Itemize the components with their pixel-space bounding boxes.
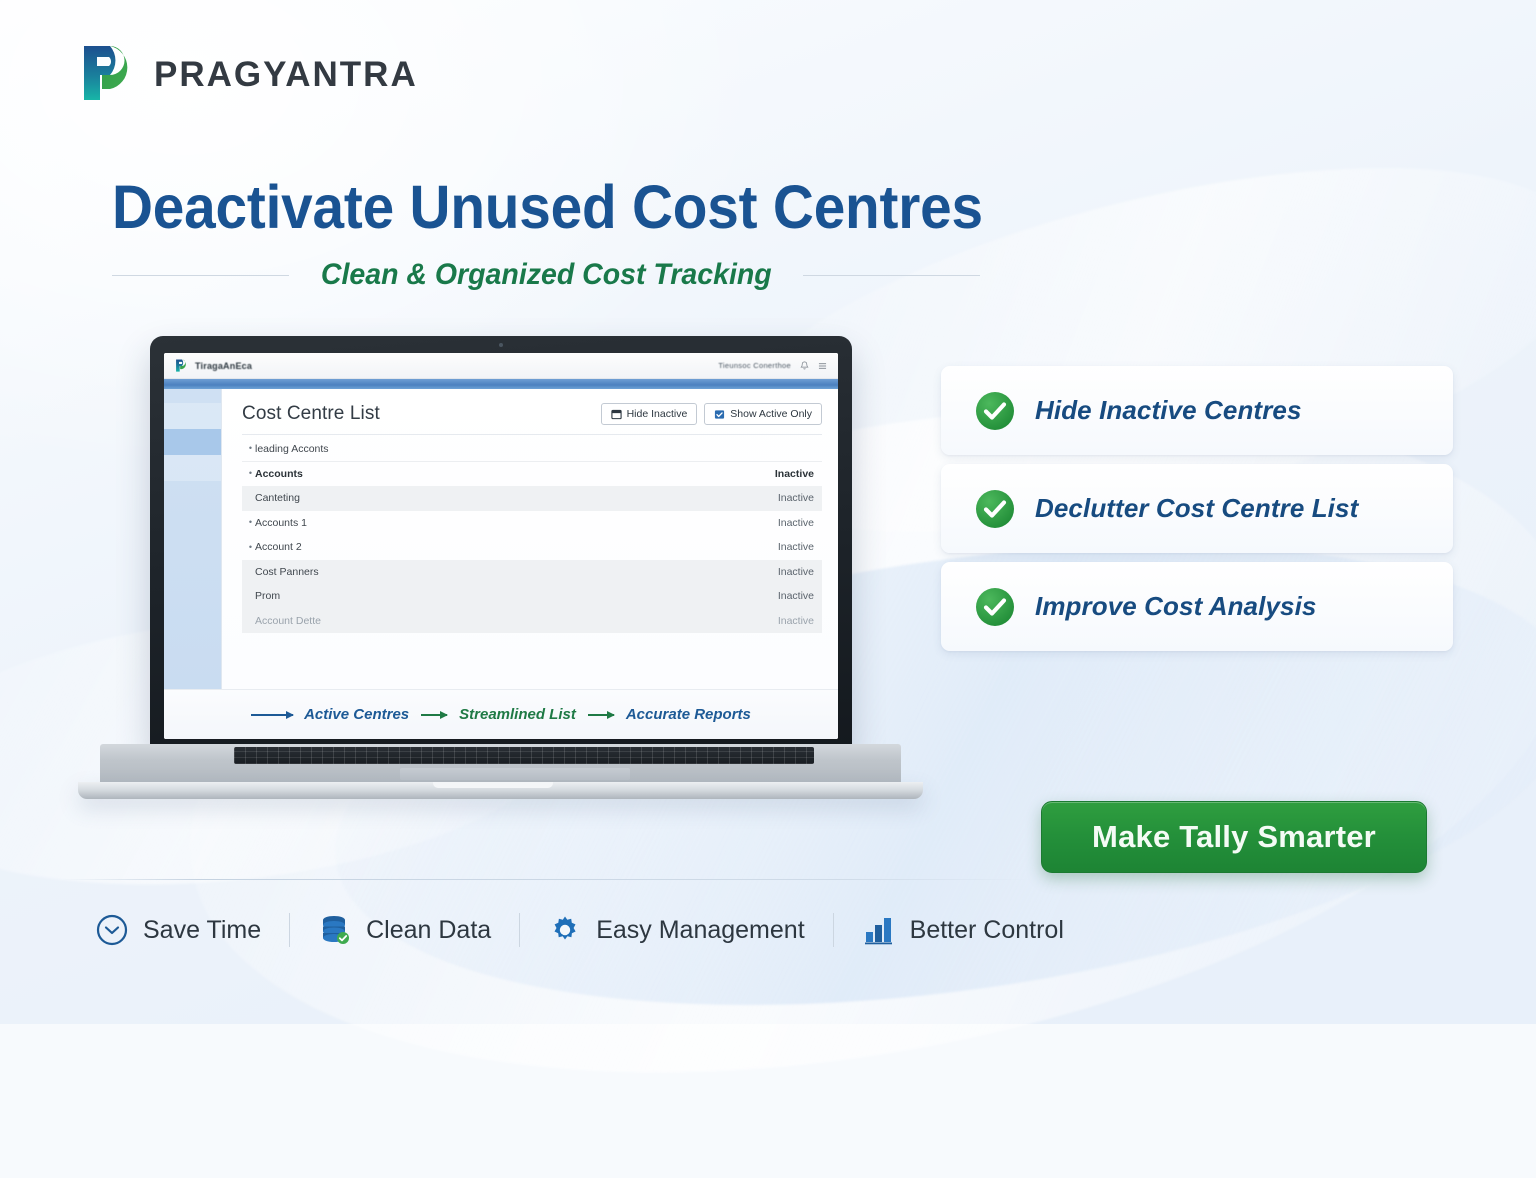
sidebar-block-active[interactable] — [164, 429, 221, 455]
table-row[interactable]: Account Dette Inactive — [242, 609, 822, 634]
webcam-icon — [499, 343, 503, 347]
row-status: Inactive — [778, 590, 814, 602]
bell-icon[interactable] — [800, 361, 809, 371]
subtitle-row: Clean & Organized Cost Tracking — [112, 258, 980, 292]
clock-icon — [95, 913, 129, 947]
table-row[interactable]: Canteting Inactive — [242, 486, 822, 511]
row-name: Canteting — [255, 492, 300, 504]
app-main-panel: Cost Centre List Hide Inactive — [222, 389, 838, 689]
row-name: Account 2 — [255, 541, 302, 553]
show-active-only-label: Show Active Only — [730, 408, 812, 420]
row-bullet-icon: • — [246, 469, 255, 478]
app-p-logo-icon — [175, 359, 188, 373]
benefit-label: Hide Inactive Centres — [1035, 395, 1302, 426]
row-bullet-icon: • — [246, 444, 255, 453]
bar-chart-icon — [862, 913, 896, 947]
table-row[interactable]: • Account 2 Inactive — [242, 535, 822, 560]
app-accent-bar — [164, 379, 838, 389]
laptop-mockup: TiragaAnEca Tieunsoc Conerthoe — [78, 336, 923, 806]
make-tally-smarter-button[interactable]: Make Tally Smarter — [1041, 801, 1427, 873]
row-bullet-icon: • — [246, 543, 255, 552]
row-status: Inactive — [778, 492, 814, 504]
row-status: Inactive — [778, 566, 814, 578]
checkbox-checked-icon — [714, 409, 725, 420]
app-header-text: Tieunsoc Conerthoe — [718, 361, 791, 370]
benefit-label: Improve Cost Analysis — [1035, 591, 1316, 622]
row-name: Prom — [255, 590, 280, 602]
save-box-icon — [611, 409, 622, 420]
laptop-lid: TiragaAnEca Tieunsoc Conerthoe — [150, 336, 852, 751]
footer-feature-better-control: Better Control — [862, 913, 1064, 947]
laptop-latch-notch — [433, 782, 553, 788]
footer-divider — [62, 879, 1030, 880]
table-row[interactable]: Cost Panners Inactive — [242, 560, 822, 585]
page-title: Deactivate Unused Cost Centres — [112, 172, 1042, 242]
row-bullet-icon: • — [246, 518, 255, 527]
cta-label: Make Tally Smarter — [1092, 819, 1376, 855]
flow-step-2: Streamlined List — [459, 706, 576, 723]
flow-step-1: Active Centres — [304, 706, 409, 723]
row-status: Inactive — [778, 541, 814, 553]
row-name: leading Acconts — [255, 443, 329, 455]
footer-feature-clean-data: Clean Data — [318, 913, 491, 947]
flow-step-3: Accurate Reports — [626, 706, 751, 723]
gear-icon — [548, 913, 582, 947]
database-icon — [318, 913, 352, 947]
row-name: Accounts — [255, 468, 303, 480]
row-status: Inactive — [778, 615, 814, 627]
app-name: TiragaAnEca — [195, 361, 252, 371]
sidebar-block-3[interactable] — [164, 455, 221, 481]
app-header: TiragaAnEca Tieunsoc Conerthoe — [164, 353, 838, 379]
subtitle-rule-right — [803, 275, 980, 276]
app-sidebar[interactable] — [164, 389, 222, 689]
brand-logo: PRAGYANTRA — [80, 44, 418, 106]
laptop-screen: TiragaAnEca Tieunsoc Conerthoe — [164, 353, 838, 739]
panel-title: Cost Centre List — [242, 403, 380, 425]
right-arrow-icon — [251, 714, 293, 716]
footer-divider-2 — [519, 913, 520, 947]
green-check-circle-icon — [974, 390, 1016, 432]
footer-divider-3 — [833, 913, 834, 947]
footer-feature-label: Save Time — [143, 916, 261, 945]
brand-name: PRAGYANTRA — [154, 55, 418, 95]
benefit-label: Declutter Cost Centre List — [1035, 493, 1358, 524]
hide-inactive-button[interactable]: Hide Inactive — [601, 403, 698, 425]
table-row[interactable]: • leading Acconts — [242, 437, 822, 462]
laptop-deck — [100, 744, 901, 784]
right-arrow-icon — [588, 714, 614, 716]
table-row[interactable]: • Accounts 1 Inactive — [242, 511, 822, 536]
subtitle-rule-left — [112, 275, 289, 276]
row-status: Inactive — [778, 517, 814, 529]
sidebar-block-1[interactable] — [164, 403, 221, 429]
hide-inactive-label: Hide Inactive — [627, 408, 688, 420]
cost-centre-list: • leading Acconts • Accounts Inactive Ca… — [242, 437, 822, 633]
footer-feature-save-time: Save Time — [95, 913, 261, 947]
footer-feature-label: Clean Data — [366, 916, 491, 945]
laptop-front-edge — [78, 782, 923, 799]
benefit-card-improve-cost-analysis[interactable]: Improve Cost Analysis — [941, 562, 1453, 651]
footer-feature-easy-management: Easy Management — [548, 913, 804, 947]
app-body: Cost Centre List Hide Inactive — [164, 389, 838, 689]
row-status: Inactive — [775, 468, 814, 480]
trackpad — [400, 768, 630, 780]
footer-feature-strip: Save Time Clean Data Easy Management — [95, 902, 1155, 958]
keyboard — [234, 747, 814, 764]
footer-feature-label: Better Control — [910, 916, 1064, 945]
footer-feature-label: Easy Management — [596, 916, 804, 945]
benefit-card-declutter-cost-centre-list[interactable]: Declutter Cost Centre List — [941, 464, 1453, 553]
table-row[interactable]: • Accounts Inactive — [242, 462, 822, 487]
row-name: Cost Panners — [255, 566, 319, 578]
green-check-circle-icon — [974, 586, 1016, 628]
app-header-right: Tieunsoc Conerthoe — [718, 361, 827, 371]
benefit-card-hide-inactive-centres[interactable]: Hide Inactive Centres — [941, 366, 1453, 455]
row-name: Account Dette — [255, 615, 321, 627]
laptop-base — [78, 744, 923, 800]
footer-divider-1 — [289, 913, 290, 947]
row-name: Accounts 1 — [255, 517, 307, 529]
page-subtitle: Clean & Organized Cost Tracking — [321, 258, 772, 292]
pragyantra-p-logo-icon — [80, 44, 136, 106]
process-flow: Active Centres Streamlined List Accurate… — [164, 689, 838, 739]
benefit-cards: Hide Inactive Centres Declutter Cost Cen… — [941, 366, 1453, 660]
green-check-circle-icon — [974, 488, 1016, 530]
panel-header: Cost Centre List Hide Inactive — [242, 403, 822, 435]
hamburger-menu-icon[interactable] — [818, 361, 827, 371]
show-active-only-button[interactable]: Show Active Only — [704, 403, 822, 425]
right-arrow-icon — [421, 714, 447, 716]
panel-actions: Hide Inactive Show Active Only — [601, 403, 822, 425]
table-row[interactable]: Prom Inactive — [242, 584, 822, 609]
